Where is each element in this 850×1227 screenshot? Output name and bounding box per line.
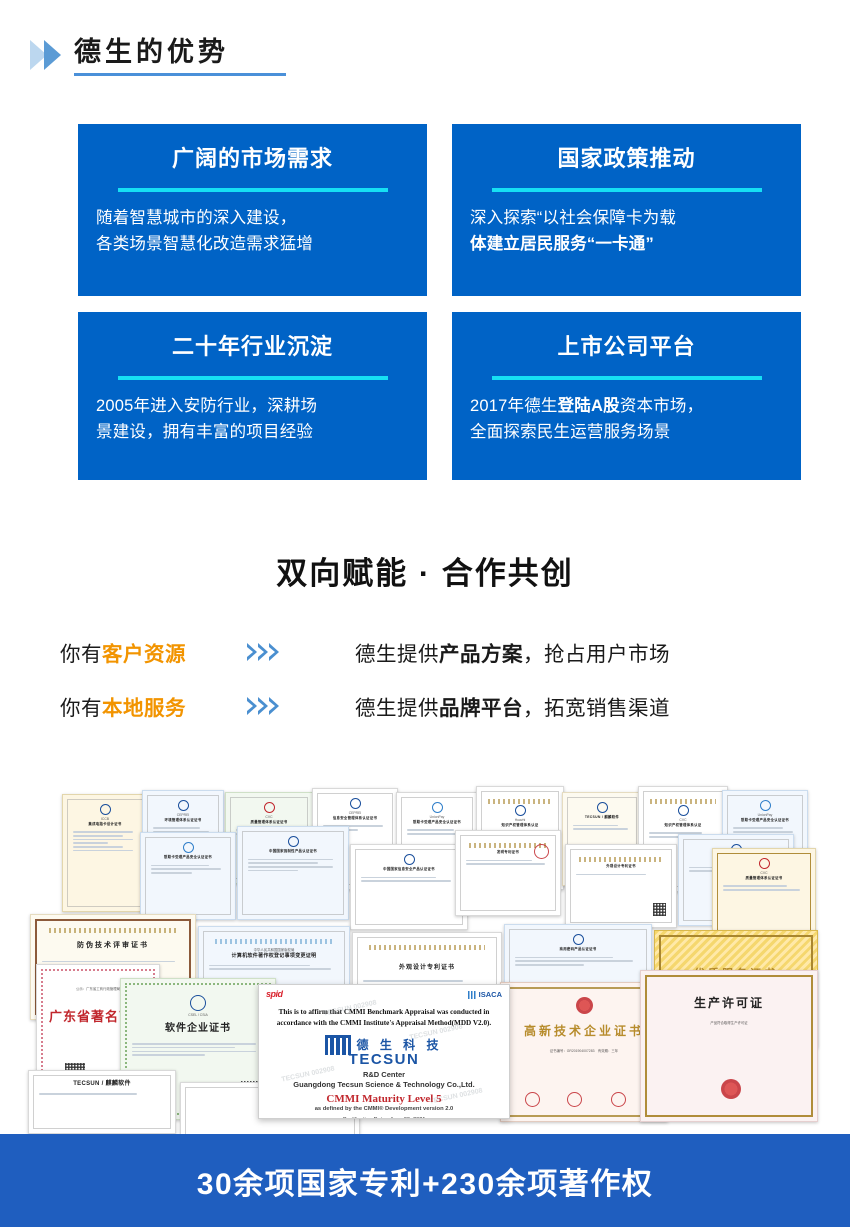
card-body: 深入探索“以社会保障卡为载 体建立居民服务“一卡通” [470,206,783,257]
cmmi-dates: Certification Date : June 30, 2021 Expir… [267,1116,501,1119]
row-right-prefix: 德生提供 [355,643,439,666]
isaca-logo: ISACA [468,990,502,999]
certificate-issuer: CEPREI [323,811,387,816]
row-left-highlight: 本地服务 [102,697,186,720]
certificate-title: 软件企业证书 [132,1022,264,1036]
certificate-issuer: ICCB [73,817,137,822]
certificate-title: TECSUN / 麒麟软件 [573,815,631,820]
cmmi-as-defined: as defined by the CMMI® Development vers… [267,1106,501,1112]
certificate-thumbnail: 生产许可证 产品符合取得生产许可证 [640,970,818,1122]
row-right-emphasis: 品牌平台 [439,697,523,720]
tecsun-name-en: TECSUN [267,1051,501,1068]
card-body: 随着智慧城市的深入建设， 各类场景智慧化改造需求猛增 [96,206,409,257]
certificate-issuer: 证书编号：GR201904007283 有效期：三年 [512,1049,656,1054]
certificate-title: 知识产权管理体系认证 [487,823,553,828]
certificate-title: 计算机软件著作权登记事项变更证明 [209,953,339,960]
certificate-title: 外观设计专利证书 [363,964,491,972]
cooperation-heading: 双向赋能 · 合作共创 [0,548,850,593]
card-body-line: 体建立居民服务“一卡通” [470,232,783,258]
cooperation-row-left: 你有客户资源 [60,637,235,667]
isaca-mark-icon [468,991,476,999]
card-body-line: 各类场景智慧化改造需求猛增 [96,232,409,258]
card-title: 二十年行业沉淀 [172,334,333,360]
chevron-right-icon [247,697,257,715]
card-title: 国家政策推动 [557,146,695,172]
card-body: 2005年进入安防行业，深耕场 景建设，拥有丰富的项目经验 [96,394,409,445]
certificate-thumbnail: 银联卡受理产品安全认证证书 [140,832,236,920]
cooperation-row-left: 你有本地服务 [60,691,235,721]
title-underline [74,73,286,76]
certificate-title: 中国国家信息安全产品认证证书 [361,867,457,872]
certificate-thumbnail: ICCB 集成电路卡设计证书 [62,794,148,912]
card-body-line: 景建设，拥有丰富的项目经验 [96,420,409,446]
certificate-title: 知识产权管理体系认证 [649,823,717,828]
triple-chevron-right-icon [235,697,355,715]
certificate-title: TECSUN / 麒麟软件 [39,1080,165,1088]
certificate-issuer: CVC [649,818,717,823]
cmmi-cert-date: Certification Date : June 30, 2021 [267,1116,501,1119]
certificate-thumbnail: TECSUN / 麒麟软件 [28,1070,176,1134]
card-body-line: 随着智慧城市的深入建设， [96,206,409,232]
certificate-title: 外观设计专利证书 [576,864,666,869]
certificate-issuer: UnionPay [733,813,797,818]
certificate-title: 集成电路卡设计证书 [73,822,137,827]
chevron-right-icon [269,697,279,715]
bottom-banner: 30余项国家专利+230余项著作权 [0,1134,850,1227]
cooperation-rows: 你有客户资源 德生提供产品方案，抢占用户市场 你有本地服务 德生提供品牌平台，拓… [60,625,820,733]
row-right-suffix: ，抢占用户市场 [523,643,670,666]
card-title: 广阔的市场需求 [172,146,333,172]
spid-logo: spid [266,989,283,999]
card-body-line: 深入探索“以社会保障卡为载 [470,206,783,232]
certificate-title: 商用密码产品认证证书 [515,947,641,952]
certificate-thumbnail: 中国国家信息安全产品认证证书 [350,844,468,930]
certificate-issuer: 中华人民共和国国家版权局 [209,948,339,953]
row-right-suffix: ，拓宽销售渠道 [523,697,670,720]
card-body-emphasis: 登陆A股 [558,397,620,415]
cmmi-affirm-line: accordance with the CMMI Institute's App… [267,1018,501,1029]
card-body-line: 全面探索民生运营服务场景 [470,420,783,446]
triple-chevron-right-icon [235,643,355,661]
card-divider [492,376,762,380]
row-left-prefix: 你有 [60,643,102,666]
chevron-right-icon [247,643,257,661]
certificate-thumbnail: 中国国家强制性产品认证证书 [237,826,349,920]
page-root: 德生的优势 广阔的市场需求 随着智慧城市的深入建设， 各类场景智慧化改造需求猛增… [0,0,850,1227]
certificate-title: 高新技术企业证书 [512,1023,656,1039]
chevron-right-icon [269,643,279,661]
card-body-text: 2017年德生 [470,397,558,415]
certificate-issuer: CEPREI [153,813,213,818]
advantage-card: 国家政策推动 深入探索“以社会保障卡为载 体建立居民服务“一卡通” [452,124,801,296]
card-divider [492,188,762,192]
certificate-thumbnail: 发明专利证书 [455,830,561,916]
certificate-title: 银联卡受理产品安全认证证书 [407,820,467,825]
advantage-card: 二十年行业沉淀 2005年进入安防行业，深耕场 景建设，拥有丰富的项目经验 [78,312,427,480]
chevron-right-icon [258,643,268,661]
cooperation-row-right: 德生提供品牌平台，拓宽销售渠道 [355,691,670,721]
cmmi-level: CMMI Maturity Level 5 [267,1093,501,1105]
card-body-line: 2005年进入安防行业，深耕场 [96,394,409,420]
cmmi-affirm-line: This is to affirm that CMMI Benchmark Ap… [267,1007,501,1018]
card-divider [118,188,388,192]
certificate-issuer: CVC [723,871,805,876]
page-title: 德生的优势 [74,38,286,68]
certificate-issuer: UnionPay [407,815,467,820]
certificate-issuer: CVC [236,815,302,820]
cmmi-unit: R&D Center [267,1070,501,1079]
cmmi-certificate: spid ISACA This is to affirm that CMMI B… [258,984,510,1119]
certificate-title: 信息安全管理体系认证证书 [323,816,387,821]
certificate-title: 中国国家强制性产品认证证书 [248,849,338,854]
cmmi-legal-name: Guangdong Tecsun Science & Technology Co… [267,1080,501,1089]
section-header: 德生的优势 [30,38,286,76]
cmmi-affirmation: This is to affirm that CMMI Benchmark Ap… [267,1007,501,1029]
row-left-prefix: 你有 [60,697,102,720]
advantage-card-grid: 广阔的市场需求 随着智慧城市的深入建设， 各类场景智慧化改造需求猛增 国家政策推… [78,124,772,480]
certificate-collage: ICCB 集成电路卡设计证书 CEPREI 环境管理体系认证证书 CVC 质量管… [0,782,850,1134]
chevron-right-icon [44,40,61,70]
card-title: 上市公司平台 [557,334,695,360]
certificate-title: 生产许可证 [652,995,806,1011]
cooperation-row: 你有本地服务 德生提供品牌平台，拓宽销售渠道 [60,679,820,733]
card-divider [118,376,388,380]
certificate-title: 银联卡受理产品安全认证证书 [733,818,797,823]
card-body: 2017年德生登陆A股资本市场， 全面探索民生运营服务场景 [470,394,783,445]
certificate-title: 环境管理体系认证证书 [153,818,213,823]
advantage-card: 上市公司平台 2017年德生登陆A股资本市场， 全面探索民生运营服务场景 [452,312,801,480]
header-arrow-group [30,40,58,70]
card-body-line: 2017年德生登陆A股资本市场， [470,394,783,420]
row-left-highlight: 客户资源 [102,643,186,666]
advantage-card: 广阔的市场需求 随着智慧城市的深入建设， 各类场景智慧化改造需求猛增 [78,124,427,296]
certificate-title: 质量管理体系认证证书 [236,820,302,825]
certificate-title: 质量管理体系认证证书 [723,876,805,881]
card-body-text: 资本市场， [620,397,704,415]
certificate-issuer: CSEL / CSIA [132,1013,264,1018]
certificate-issuer: Huazhi [487,818,553,823]
certificate-title: 防伪技术评审证书 [42,941,184,950]
cooperation-row: 你有客户资源 德生提供产品方案，抢占用户市场 [60,625,820,679]
cooperation-row-right: 德生提供产品方案，抢占用户市场 [355,637,670,667]
certificate-title: 银联卡受理产品安全认证证书 [151,855,225,860]
isaca-label: ISACA [479,990,502,999]
certificate-issuer: 产品符合取得生产许可证 [652,1021,806,1026]
row-right-emphasis: 产品方案 [439,643,523,666]
certificate-thumbnail: 外观设计专利证书 [565,844,677,928]
row-right-prefix: 德生提供 [355,697,439,720]
chevron-right-icon [258,697,268,715]
tecsun-mark-icon [325,1035,351,1055]
bottom-banner-text: 30余项国家专利+230余项著作权 [197,1159,653,1203]
